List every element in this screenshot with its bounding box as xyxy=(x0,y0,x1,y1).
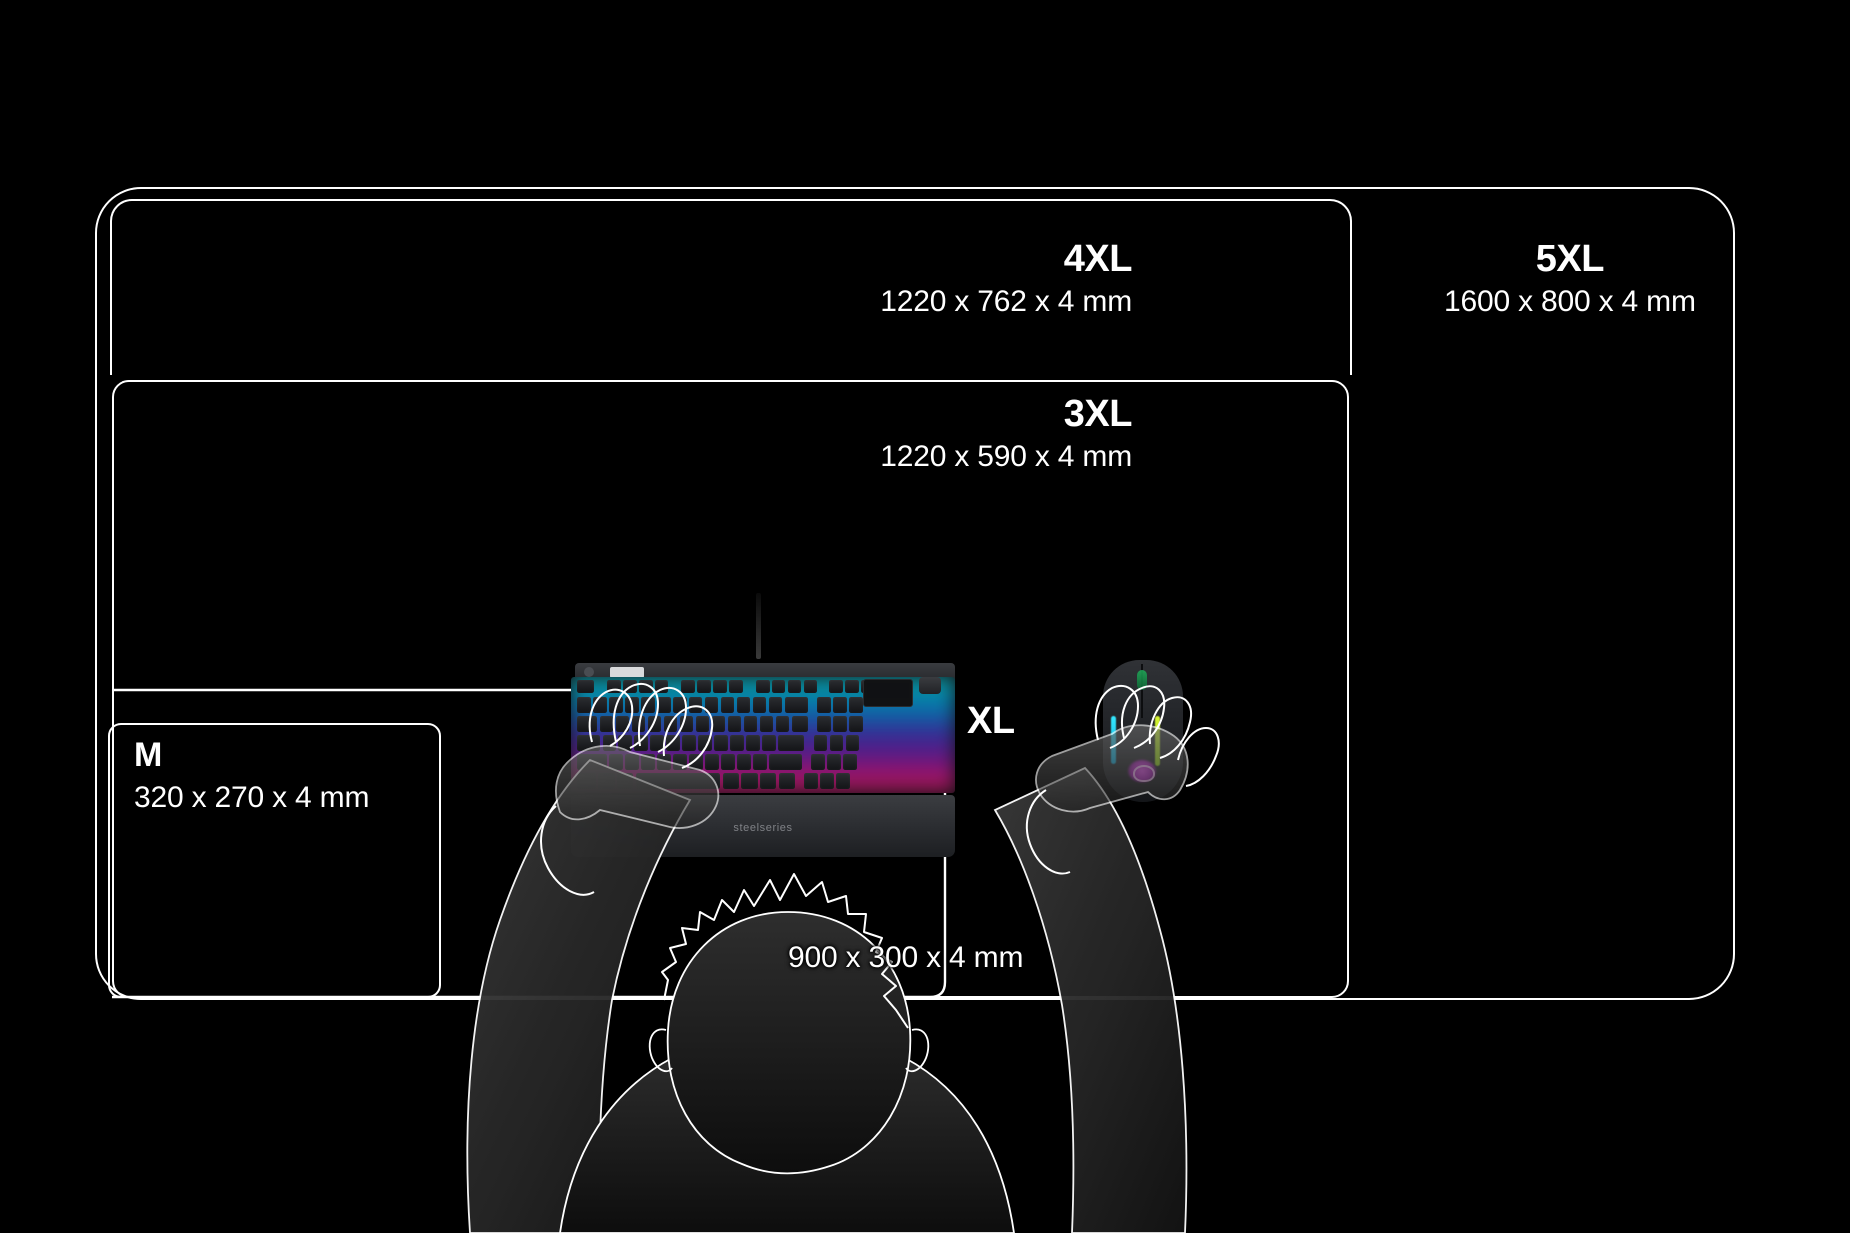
left-ear xyxy=(650,1029,672,1071)
keyboard-key xyxy=(639,680,653,693)
label-4xl: 4XL 1220 x 762 x 4 mm xyxy=(880,239,1132,318)
keyboard-key xyxy=(779,773,795,789)
keyboard-logo-dot xyxy=(584,667,594,677)
keyboard-key xyxy=(681,680,695,693)
label-m: M 320 x 270 x 4 mm xyxy=(134,737,369,814)
keyboard-key xyxy=(721,697,735,713)
keyboard-key xyxy=(778,735,804,751)
keyboard-key xyxy=(776,716,790,732)
keyboard-key xyxy=(814,735,828,751)
keyboard-key xyxy=(577,697,591,713)
keyboard-key xyxy=(682,735,696,751)
keyboard-key xyxy=(792,716,808,732)
keyboard-key xyxy=(648,716,662,732)
keyboard-key xyxy=(577,773,596,789)
keyboard-key xyxy=(625,697,639,713)
keyboard-key xyxy=(817,716,831,732)
keyboard-key xyxy=(737,697,751,713)
keyboard-key xyxy=(618,735,632,751)
keyboard-key xyxy=(698,735,712,751)
keyboard-key xyxy=(760,716,774,732)
keyboard-key xyxy=(713,680,727,693)
keyboard-wrist-rest: steelseries xyxy=(571,795,955,857)
keyboard-key xyxy=(744,716,758,732)
keyboard-key xyxy=(596,680,604,693)
keyboard-key xyxy=(721,754,735,770)
label-xl-size: XL xyxy=(967,700,1015,743)
keyboard-key xyxy=(785,697,808,713)
keyboard-key xyxy=(705,697,719,713)
keyboard-key-row xyxy=(571,773,850,789)
label-3xl-dimensions: 1220 x 590 x 4 mm xyxy=(880,441,1132,473)
right-ear xyxy=(906,1029,928,1071)
keyboard-key xyxy=(769,697,783,713)
keyboard-key xyxy=(827,754,841,770)
keyboard-key xyxy=(836,773,850,789)
gaming-mouse xyxy=(1097,660,1189,802)
keyboard-key xyxy=(772,680,786,693)
keyboard-key xyxy=(673,754,687,770)
mouse-rgb-strip-right xyxy=(1155,716,1160,766)
torso xyxy=(560,1040,1014,1233)
size-rect-4xl xyxy=(110,199,1352,375)
keyboard-key xyxy=(746,735,760,751)
keyboard-key-row xyxy=(571,735,859,751)
keyboard-key xyxy=(664,716,678,732)
keyboard-key xyxy=(689,754,703,770)
keyboard-key xyxy=(797,773,802,789)
keyboard-key xyxy=(634,735,648,751)
keyboard-key xyxy=(616,716,630,732)
keyboard-key xyxy=(696,716,710,732)
keyboard-key xyxy=(625,754,639,770)
keyboard-key xyxy=(609,697,623,713)
keyboard-key xyxy=(641,754,655,770)
keyboard-key xyxy=(607,680,621,693)
keyboard-key xyxy=(820,680,827,693)
mouse-rgb-strip-left xyxy=(1111,716,1116,764)
keyboard-key-row xyxy=(571,754,857,770)
keyboard-key xyxy=(804,773,818,789)
keyboard-key xyxy=(666,735,680,751)
keyboard-key xyxy=(730,735,744,751)
keyboard-key xyxy=(712,716,726,732)
keyboard-oled-panel xyxy=(863,679,913,707)
keyboard-key xyxy=(829,680,843,693)
keyboard-key xyxy=(728,716,742,732)
label-5xl: 5XL 1600 x 800 x 4 mm xyxy=(1444,239,1696,318)
keyboard-key xyxy=(753,754,767,770)
keyboard-key xyxy=(723,773,739,789)
keyboard-key xyxy=(577,735,600,751)
keyboard-key xyxy=(769,754,802,770)
keyboard-key xyxy=(820,773,834,789)
keyboard-key xyxy=(833,716,847,732)
keyboard-key-row xyxy=(571,716,863,732)
keyboard-key xyxy=(617,773,633,789)
keyboard-key xyxy=(762,735,776,751)
keyboard-key xyxy=(636,773,720,789)
keyboard-key xyxy=(671,680,679,693)
keyboard-key xyxy=(830,735,844,751)
label-m-size: M xyxy=(134,737,369,773)
label-4xl-dimensions: 1220 x 762 x 4 mm xyxy=(880,286,1132,318)
keyboard-brand-mark: steelseries xyxy=(733,822,792,834)
label-4xl-size: 4XL xyxy=(880,239,1132,279)
keyboard-key xyxy=(714,735,728,751)
keyboard-key xyxy=(673,697,687,713)
keyboard-key xyxy=(689,697,703,713)
label-3xl: 3XL 1220 x 590 x 4 mm xyxy=(880,394,1132,473)
label-5xl-size: 5XL xyxy=(1444,239,1696,279)
keyboard-key xyxy=(705,754,719,770)
keyboard-key xyxy=(609,754,623,770)
keyboard-key xyxy=(737,754,751,770)
keyboard-key xyxy=(817,697,831,713)
keyboard-key xyxy=(846,735,860,751)
keyboard-oled-screen xyxy=(867,683,909,698)
keyboard-key xyxy=(632,716,646,732)
keyboard-key xyxy=(807,735,812,751)
keyboard-key-row xyxy=(571,680,875,693)
keyboard-key xyxy=(849,716,863,732)
keyboard-key xyxy=(641,697,655,713)
keyboard-key xyxy=(623,680,637,693)
label-xl-dimensions: 900 x 300 x 4 mm xyxy=(788,941,1023,975)
label-3xl-size: 3XL xyxy=(880,394,1132,434)
keyboard-key xyxy=(811,754,825,770)
keyboard-key xyxy=(603,735,617,751)
keyboard-key xyxy=(577,754,607,770)
label-5xl-dimensions: 1600 x 800 x 4 mm xyxy=(1444,286,1696,318)
keyboard-key xyxy=(657,697,671,713)
mousepad-size-comparison-diagram: steelseries xyxy=(0,0,1850,1233)
keyboard-key xyxy=(849,697,863,713)
keyboard-key xyxy=(756,680,770,693)
keyboard-key xyxy=(655,680,669,693)
keyboard-key xyxy=(804,680,818,693)
keyboard-volume-knob xyxy=(919,677,941,694)
keyboard-key xyxy=(845,680,859,693)
keyboard-key xyxy=(729,680,743,693)
keyboard-key xyxy=(697,680,711,693)
keyboard-key xyxy=(810,716,815,732)
keyboard-key xyxy=(843,754,857,770)
keyboard-key xyxy=(833,697,847,713)
keyboard-key xyxy=(657,754,671,770)
keyboard-key xyxy=(760,773,776,789)
keyboard-key xyxy=(598,773,614,789)
mouse-scroll-wheel xyxy=(1137,670,1147,690)
keyboard-key-row xyxy=(571,697,863,713)
keyboard-key xyxy=(741,773,757,789)
keyboard-key xyxy=(600,716,614,732)
keyboard-key xyxy=(680,716,694,732)
keyboard-key xyxy=(650,735,664,751)
keyboard: steelseries xyxy=(563,655,955,900)
keyboard-key xyxy=(753,697,767,713)
keyboard-key xyxy=(577,716,597,732)
label-m-dimensions: 320 x 270 x 4 mm xyxy=(134,782,369,814)
keyboard-key xyxy=(593,697,607,713)
keyboard-cable xyxy=(756,593,761,659)
keyboard-key xyxy=(745,680,753,693)
keyboard-key xyxy=(810,697,815,713)
keyboard-key xyxy=(804,754,809,770)
keyboard-key xyxy=(577,680,594,693)
keyboard-key xyxy=(788,680,802,693)
mouse-brand-logo-icon xyxy=(1133,765,1155,782)
